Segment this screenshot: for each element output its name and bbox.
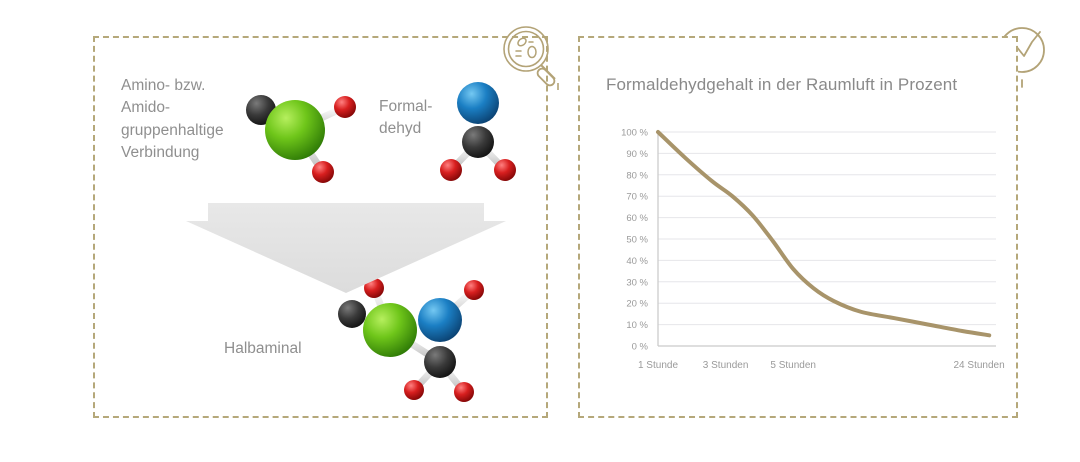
reaction-arrow-icon	[186, 203, 506, 293]
chart-y-tick: 30 %	[626, 277, 648, 288]
magnifier-molecule-icon	[497, 21, 569, 93]
chart-x-tick: 1 Stunde	[638, 360, 678, 371]
formaldehyde-decay-line-chart: 100 %90 %80 %70 %60 %50 %40 %30 %20 %10 …	[596, 118, 1006, 383]
chart-x-tick: 3 Stunden	[703, 360, 749, 371]
chart-y-tick: 80 %	[626, 170, 648, 181]
chart-series-line	[658, 132, 989, 335]
chart-y-tick: 50 %	[626, 235, 648, 246]
molecule-amino-compound	[235, 80, 375, 195]
chart-x-axis-labels: 1 Stunde3 Stunden5 Stunden24 Stunden	[638, 360, 1005, 371]
chart-y-tick: 20 %	[626, 299, 648, 310]
chart-y-tick: 0 %	[632, 342, 649, 353]
chart-x-tick: 24 Stunden	[954, 360, 1005, 371]
chart-y-tick: 100 %	[621, 128, 648, 139]
chart-y-tick: 10 %	[626, 320, 648, 331]
chart-title: Formaldehydgehalt in der Raumluft in Pro…	[606, 75, 957, 95]
chart-y-tick: 70 %	[626, 192, 648, 203]
chart-x-tick: 5 Stunden	[770, 360, 816, 371]
chart-y-tick: 60 %	[626, 213, 648, 224]
chart-y-axis-labels: 100 %90 %80 %70 %60 %50 %40 %30 %20 %10 …	[621, 128, 648, 353]
chart-gridlines	[658, 132, 996, 346]
chart-y-tick: 40 %	[626, 256, 648, 267]
product-halbaminal-label: Halbaminal	[224, 338, 302, 360]
chart-y-tick: 90 %	[626, 149, 648, 160]
